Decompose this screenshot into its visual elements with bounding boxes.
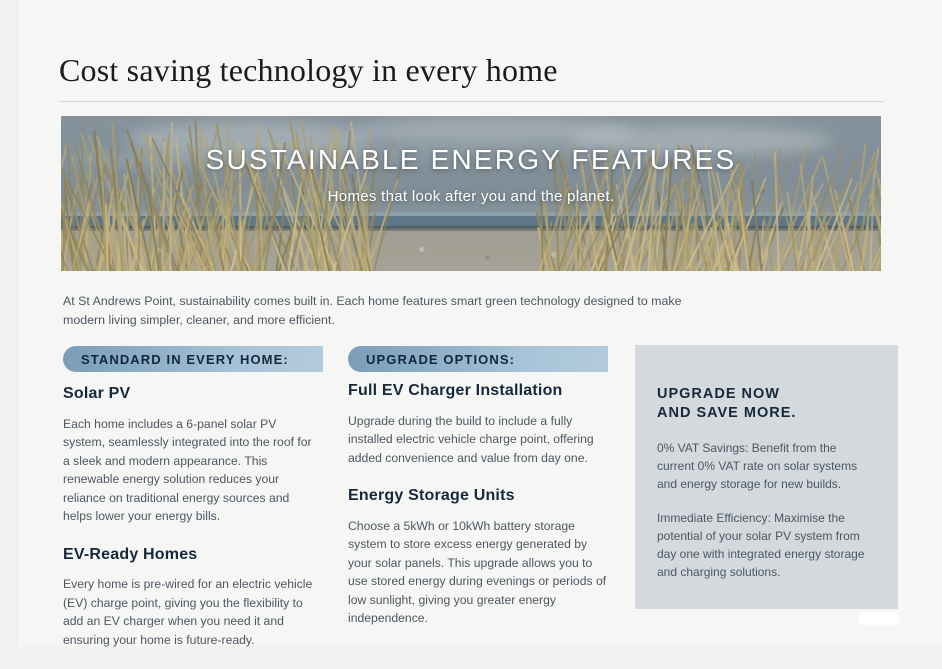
feature-heading: Solar PV [63,385,321,404]
panel-paragraph-immediate-efficiency: Immediate Efficiency: Maximise the poten… [657,509,876,581]
hero-banner: SUSTAINABLE ENERGY FEATURES Homes that l… [61,116,881,271]
feature-heading: Full EV Charger Installation [348,382,613,401]
intro-paragraph: At St Andrews Point, sustainability come… [63,292,703,330]
panel-title: UPGRADE NOW AND SAVE MORE. [657,385,876,423]
feature-heading: EV-Ready Homes [63,546,321,565]
hero-text-block: SUSTAINABLE ENERGY FEATURES Homes that l… [61,144,881,205]
feature-body: Upgrade during the build to include a fu… [348,412,613,468]
title-block: Cost saving technology in every home [59,52,884,102]
feature-body: Each home includes a 6-panel solar PV sy… [63,415,321,526]
upgrade-now-panel: UPGRADE NOW AND SAVE MORE. 0% VAT Saving… [635,345,898,609]
feature-heading: Energy Storage Units [348,487,613,506]
bottom-right-pill [858,612,900,625]
badge-upgrade-options: UPGRADE OPTIONS: [348,346,608,372]
badge-standard-label: STANDARD IN EVERY HOME: [81,352,289,367]
badge-standard-in-every-home: STANDARD IN EVERY HOME: [63,346,323,372]
panel-paragraph-vat-savings: 0% VAT Savings: Benefit from the current… [657,439,876,493]
page-title: Cost saving technology in every home [59,52,884,89]
feature-block-energy-storage-units: Energy Storage Units Choose a 5kWh or 10… [348,487,613,628]
feature-block-solar-pv: Solar PV Each home includes a 6-panel so… [63,385,321,526]
feature-block-ev-ready-homes: EV-Ready Homes Every home is pre-wired f… [63,546,321,650]
column-standard: Solar PV Each home includes a 6-panel so… [63,385,321,669]
document-page: Cost saving technology in every home [17,0,942,646]
feature-body: Every home is pre-wired for an electric … [63,575,321,649]
feature-body: Choose a 5kWh or 10kWh battery storage s… [348,517,613,628]
column-upgrade: Full EV Charger Installation Upgrade dur… [348,382,613,648]
feature-block-full-ev-charger-installation: Full EV Charger Installation Upgrade dur… [348,382,613,467]
title-divider [59,101,884,102]
hero-title: SUSTAINABLE ENERGY FEATURES [61,144,881,176]
badge-upgrade-label: UPGRADE OPTIONS: [366,352,515,367]
hero-subtitle: Homes that look after you and the planet… [61,188,881,205]
